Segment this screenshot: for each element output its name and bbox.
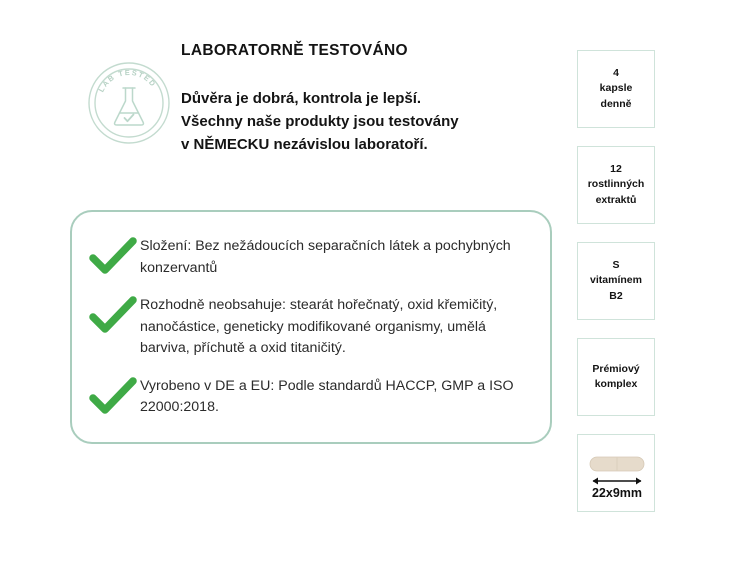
- capsule-icon: [590, 457, 644, 471]
- list-item: Vyrobeno v DE a EU: Podle standardů HACC…: [86, 374, 536, 419]
- feature-box-column: 4kapsledenně 12rostlinnýchextraktů Svita…: [577, 50, 657, 512]
- page-title: LABORATORNĚ TESTOVÁNO: [181, 42, 541, 61]
- header-paragraph: Důvěra je dobrá, kontrola je lepší. Všec…: [181, 87, 541, 157]
- feature-box-label: Prémiovýkomplex: [590, 362, 641, 392]
- list-item: Rozhodně neobsahuje: stearát hořečnatý, …: [86, 293, 536, 360]
- lab-tested-seal-icon: LAB TESTED: [86, 60, 172, 146]
- list-item-label: Rozhodně neobsahuje: stearát hořečnatý, …: [140, 293, 530, 360]
- claims-list: Složení: Bez nežádoucích separačních lát…: [86, 234, 536, 419]
- feature-box-vitamin: SvitamínemB2: [577, 242, 655, 320]
- header-paragraph-line-2: Všechny naše produkty jsou testovány: [181, 110, 541, 133]
- feature-box-capsule-size: 22x9mm: [577, 434, 655, 512]
- feature-box-extracts: 12rostlinnýchextraktů: [577, 146, 655, 224]
- list-item: Složení: Bez nežádoucích separačních lát…: [86, 234, 536, 279]
- list-item-label: Vyrobeno v DE a EU: Podle standardů HACC…: [140, 374, 530, 419]
- header-text-block: LABORATORNĚ TESTOVÁNO Důvěra je dobrá, k…: [181, 42, 541, 156]
- feature-box-dosage: 4kapsledenně: [577, 50, 655, 128]
- feature-box-label: 12rostlinnýchextraktů: [586, 162, 647, 208]
- header-paragraph-line-1: Důvěra je dobrá, kontrola je lepší.: [181, 87, 541, 110]
- capsule-dimension-label: 22x9mm: [592, 486, 642, 500]
- feature-box-label: SvitamínemB2: [588, 258, 644, 304]
- check-icon: [86, 236, 140, 276]
- dimension-arrow-icon: [593, 478, 642, 485]
- check-icon: [86, 376, 140, 416]
- infographic-root: LAB TESTED LABORATORNĚ TESTOVÁNO Důvěra …: [0, 0, 756, 567]
- header-paragraph-line-3: v NĚMECKU nezávislou laboratoří.: [181, 133, 541, 156]
- svg-text:LAB TESTED: LAB TESTED: [97, 68, 159, 94]
- claims-panel: Složení: Bez nežádoucích separačních lát…: [70, 210, 552, 444]
- list-item-label: Složení: Bez nežádoucích separačních lát…: [140, 234, 530, 279]
- check-icon: [86, 295, 140, 335]
- header-section: LAB TESTED LABORATORNĚ TESTOVÁNO Důvěra …: [0, 0, 560, 200]
- feature-box-premium: Prémiovýkomplex: [577, 338, 655, 416]
- feature-box-label: 4kapsledenně: [598, 66, 635, 112]
